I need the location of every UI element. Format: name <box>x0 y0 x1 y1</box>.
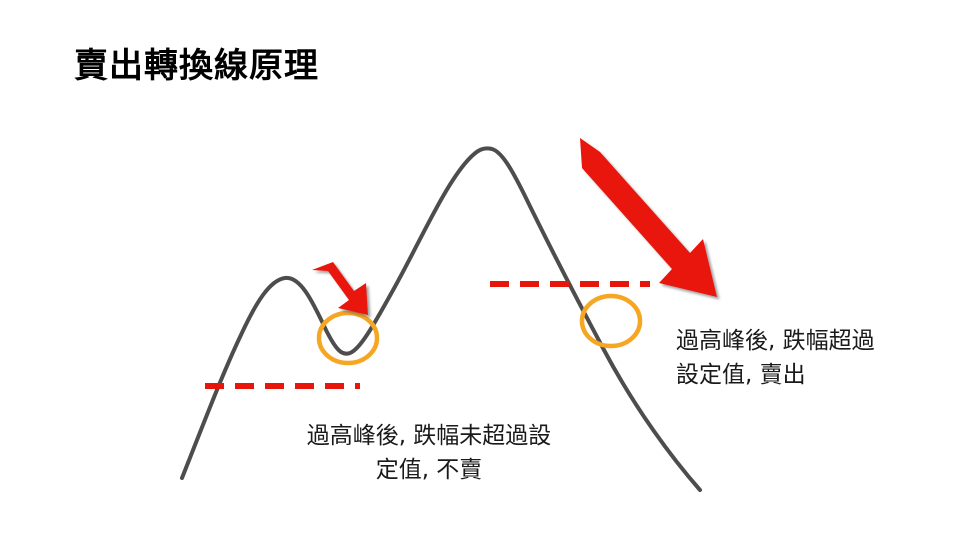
large-down-arrow <box>580 138 717 297</box>
annotation-sell: 過高峰後, 跌幅超過 設定值, 賣出 <box>676 324 926 392</box>
slide-canvas: 賣出轉換線原理 過高峰後, 跌幅未超過設 定值, 不賣 過高峰後, 跌幅超過 設… <box>0 0 960 540</box>
small-down-arrow <box>312 262 368 315</box>
annotation-no-sell: 過高峰後, 跌幅未超過設 定值, 不賣 <box>274 419 584 487</box>
